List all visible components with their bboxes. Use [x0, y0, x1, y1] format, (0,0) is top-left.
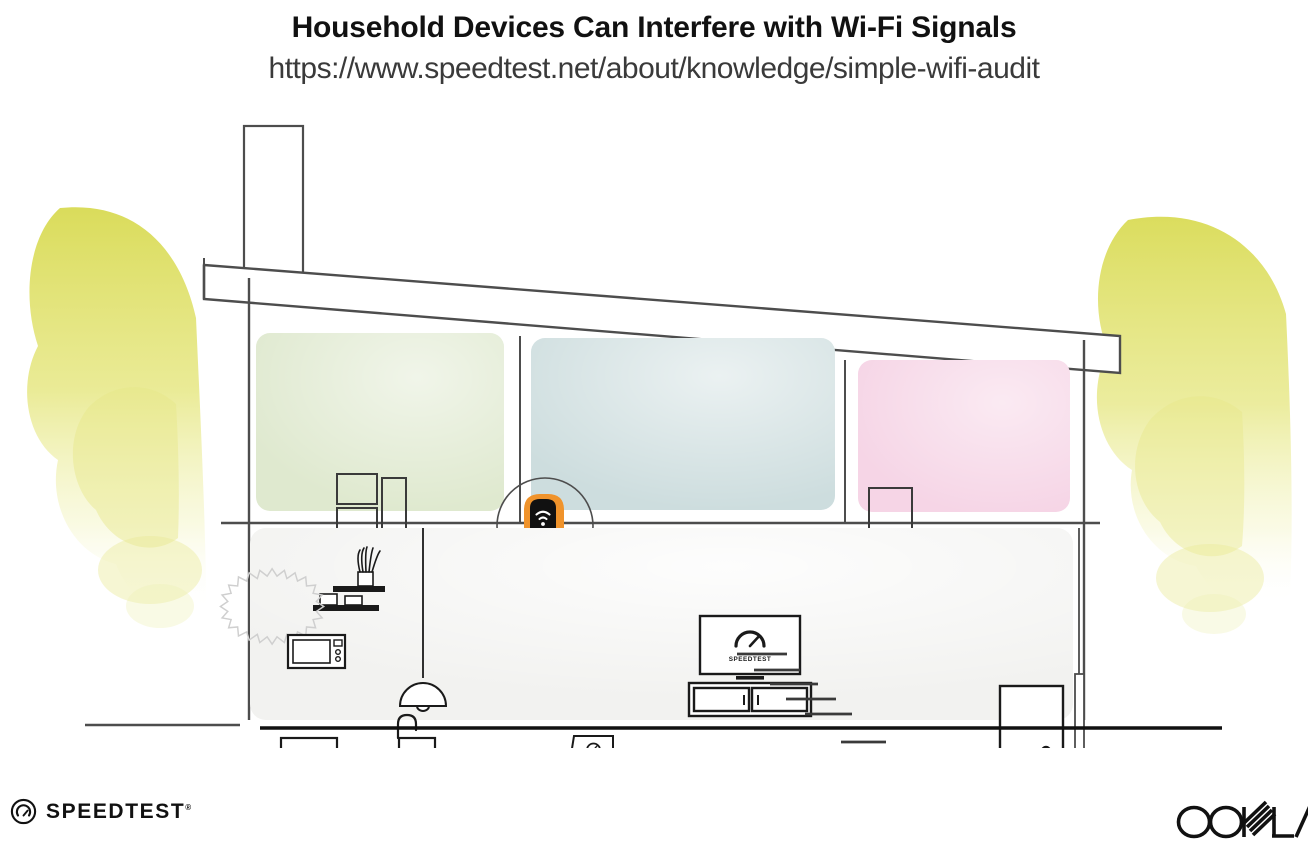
microwave-oven[interactable] — [288, 635, 345, 668]
speedtest-logo: SPEEDTEST® — [10, 798, 191, 825]
room-living-kitchen — [250, 528, 1073, 720]
kitchen-counters — [281, 738, 435, 748]
infographic-page: Household Devices Can Interfere with Wi-… — [0, 0, 1308, 861]
front-door[interactable] — [1000, 686, 1063, 748]
ookla-logo — [1174, 800, 1308, 847]
footer: SPEEDTEST® — [0, 780, 1308, 861]
house-illustration: SPEEDTEST — [0, 108, 1308, 748]
speedtest-wordmark: SPEEDTEST® — [46, 801, 191, 822]
speedtest-wordmark-text: SPEEDTEST — [46, 800, 185, 823]
chimney — [244, 126, 303, 281]
laptop[interactable]: SPEEDTEST — [563, 736, 620, 748]
speedtest-trademark: ® — [185, 803, 191, 812]
speedometer-gauge-icon — [10, 798, 37, 825]
header: Household Devices Can Interfere with Wi-… — [0, 0, 1308, 86]
page-title: Household Devices Can Interfere with Wi-… — [0, 0, 1308, 46]
source-url: https://www.speedtest.net/about/knowledg… — [0, 46, 1308, 87]
downspout — [1075, 528, 1084, 748]
tv-screen-label: SPEEDTEST — [729, 656, 772, 663]
foliage-left — [27, 207, 206, 628]
foliage-right — [1097, 217, 1292, 634]
